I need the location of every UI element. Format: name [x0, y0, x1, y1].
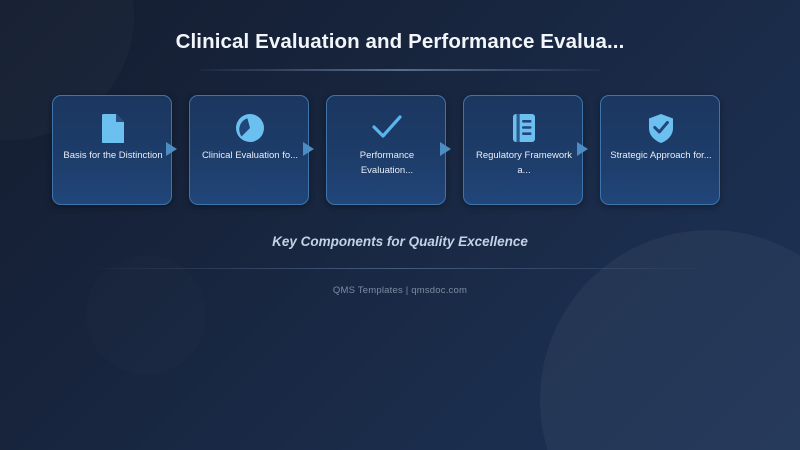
flow-step-label-1: Basis for the Distinction: [60, 148, 166, 163]
flow-step-label-4: Regulatory Framework a...: [471, 148, 577, 178]
arrow-right-icon-3: [440, 142, 451, 156]
arrow-right-icon-4: [577, 142, 588, 156]
slide-subtitle: Key Components for Quality Excellence: [0, 234, 800, 249]
footer-divider: [100, 268, 700, 269]
flow-step-label-5: Strategic Approach for...: [608, 148, 714, 163]
slide-content: Clinical Evaluation and Performance Eval…: [0, 0, 800, 450]
flow-step-label-3: Performance Evaluation...: [334, 148, 440, 178]
flow-step-card-3[interactable]: Performance Evaluation...: [326, 95, 446, 205]
document-lines-icon: [464, 110, 584, 146]
arrow-right-icon-1: [166, 142, 177, 156]
document-icon: [53, 110, 173, 146]
title-divider: [200, 69, 600, 71]
slide-title: Clinical Evaluation and Performance Eval…: [0, 30, 800, 54]
flow-step-card-4[interactable]: Regulatory Framework a...: [463, 95, 583, 205]
flow-step-card-2[interactable]: Clinical Evaluation fo...: [189, 95, 309, 205]
slide-canvas: Clinical Evaluation and Performance Eval…: [0, 0, 800, 450]
flow-step-label-2: Clinical Evaluation fo...: [197, 148, 303, 163]
arrow-right-icon-2: [303, 142, 314, 156]
pie-chart-icon: [190, 110, 310, 146]
flow-step-card-1[interactable]: Basis for the Distinction: [52, 95, 172, 205]
process-flow: Basis for the Distinction Clinical Evalu…: [52, 95, 752, 207]
shield-check-icon: [601, 110, 721, 146]
flow-step-card-5[interactable]: Strategic Approach for...: [600, 95, 720, 205]
footer-attribution: QMS Templates | qmsdoc.com: [0, 285, 800, 296]
check-icon: [327, 110, 447, 146]
